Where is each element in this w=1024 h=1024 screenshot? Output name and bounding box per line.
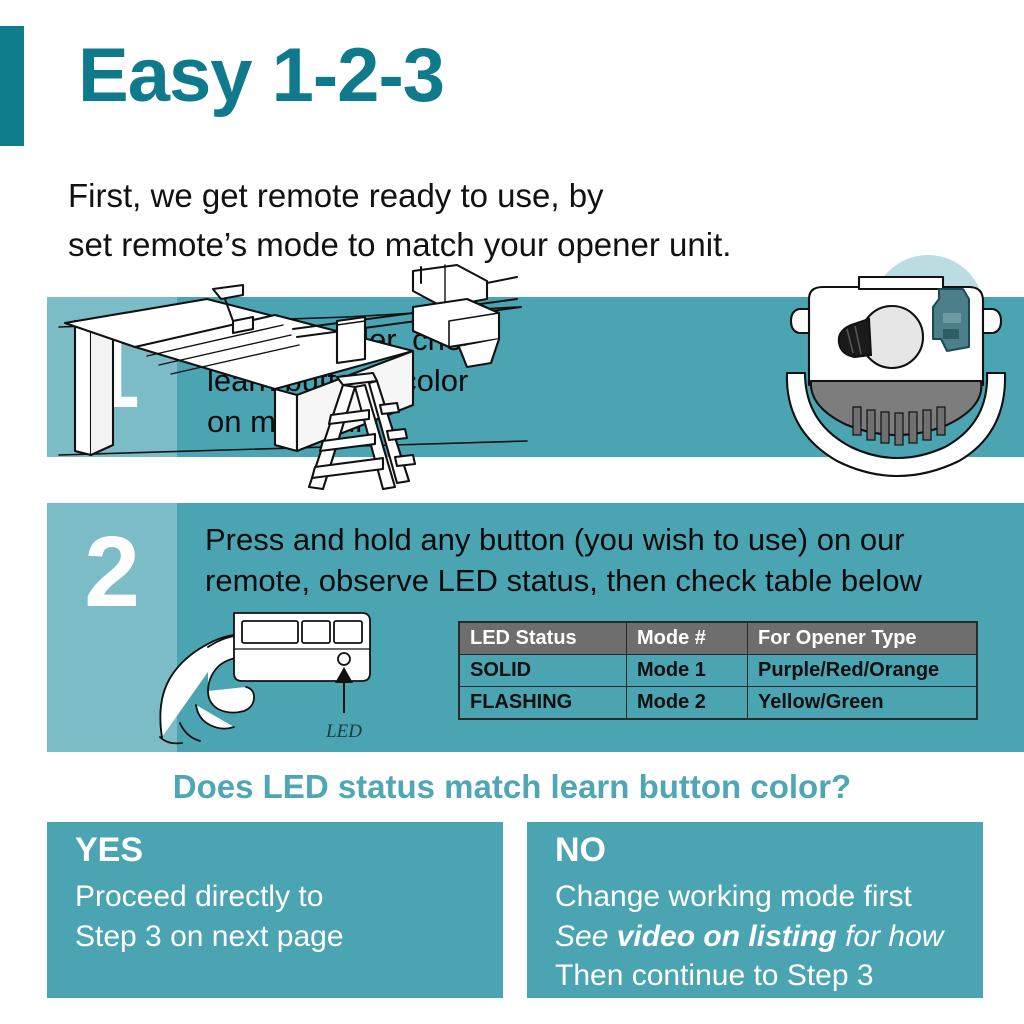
outcome-no-heading: NO [555,832,606,869]
outcome-yes-line-2: Step 3 on next page [75,917,344,957]
step-2-text-line-2: remote, observe LED status, then check t… [205,560,1005,601]
outcome-yes-body: Proceed directly to Step 3 on next page [75,877,344,956]
outcome-no-line-1: Change working mode first [555,877,943,917]
step-1-text-line-2: learn button’s color [207,360,537,401]
outcome-no-line-3: Then continue to Step 3 [555,956,943,996]
cell-mode-2: Mode 2 [627,687,748,719]
outcome-no-body: Change working mode first See video on l… [555,877,943,996]
cell-led-status-solid: SOLID [460,655,627,687]
intro-paragraph: First, we get remote ready to use, by se… [68,172,731,270]
intro-line-2: set remote’s mode to match your opener u… [68,221,731,270]
outcome-no-line-2: See video on listing for how [555,917,943,957]
cell-mode-1: Mode 1 [627,655,748,687]
table-row: FLASHING Mode 2 Yellow/Green [460,687,977,719]
table-header-opener-type: For Opener Type [748,623,977,655]
step-1-text-line-1: Grab a ladder, check [207,319,537,360]
step-2-text: Press and hold any button (you wish to u… [205,519,1005,601]
page-title: Easy 1-2-3 [78,38,444,114]
video-on-listing-emphasis: video on listing [617,920,837,953]
step-2-number: 2 [47,522,177,622]
outcome-yes-heading: YES [75,832,143,869]
cell-opener-type-2: Yellow/Green [748,687,977,719]
step-1-text: Grab a ladder, check learn button’s colo… [207,319,537,443]
cell-opener-type-1: Purple/Red/Orange [748,655,977,687]
outcome-no-box: NO Change working mode first See video o… [527,822,983,998]
cell-led-status-flashing: FLASHING [460,687,627,719]
outcome-no-line-2-post: for how [837,920,944,953]
table-header-mode: Mode # [627,623,748,655]
step-1-block: 1 Grab a ladder, check learn button’s co… [47,297,1024,457]
outcome-yes-box: YES Proceed directly to Step 3 on next p… [47,822,503,998]
outcome-yes-line-1: Proceed directly to [75,877,344,917]
led-status-table: LED Status Mode # For Opener Type SOLID … [459,622,977,719]
step-1-text-line-3: on motor unit. [207,401,537,442]
intro-line-1: First, we get remote ready to use, by [68,172,731,221]
outcome-no-line-2-pre: See [555,920,617,953]
table-row: SOLID Mode 1 Purple/Red/Orange [460,655,977,687]
step-1-number: 1 [47,323,177,423]
header-accent-bar [0,26,24,146]
step-2-text-line-1: Press and hold any button (you wish to u… [205,519,1005,560]
table-header-row: LED Status Mode # For Opener Type [460,623,977,655]
decision-question: Does LED status match learn button color… [0,768,1024,806]
table-header-led-status: LED Status [460,623,627,655]
